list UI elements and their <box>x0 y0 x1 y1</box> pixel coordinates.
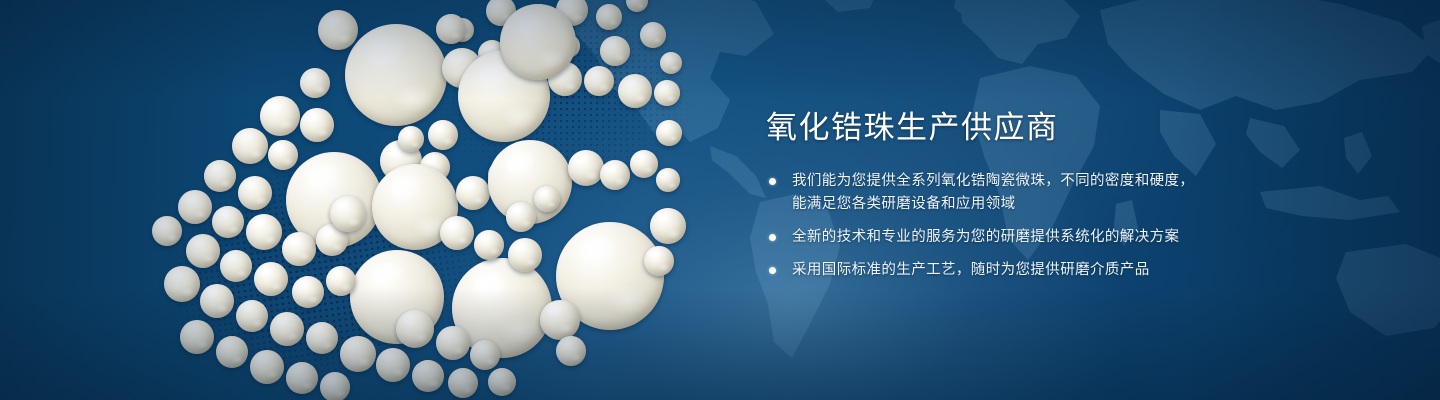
list-item: 采用国际标准的生产工艺，随时为您提供研磨介质产品 <box>766 259 1246 282</box>
list-item: 全新的技术和专业的服务为您的研磨提供系统化的解决方案 <box>766 226 1246 249</box>
page-title: 氧化锆珠生产供应商 <box>766 108 1246 148</box>
bullet-dot-icon <box>769 267 776 274</box>
list-item: 我们能为您提供全系列氧化锆陶瓷微珠，不同的密度和硬度， 能满足您各类研磨设备和应… <box>766 170 1246 216</box>
bullet-line: 全新的技术和专业的服务为您的研磨提供系统化的解决方案 <box>792 226 1246 249</box>
bullet-line: 采用国际标准的生产工艺，随时为您提供研磨介质产品 <box>792 259 1246 282</box>
bullet-dot-icon <box>769 234 776 241</box>
feature-bullet-list: 我们能为您提供全系列氧化锆陶瓷微珠，不同的密度和硬度， 能满足您各类研磨设备和应… <box>766 170 1246 282</box>
bullet-line: 能满足您各类研磨设备和应用领域 <box>792 193 1246 216</box>
hero-copy-block: 氧化锆珠生产供应商 我们能为您提供全系列氧化锆陶瓷微珠，不同的密度和硬度， 能满… <box>766 108 1246 282</box>
bullet-dot-icon <box>769 178 776 185</box>
hero-banner: 氧化锆珠生产供应商 我们能为您提供全系列氧化锆陶瓷微珠，不同的密度和硬度， 能满… <box>0 0 1440 400</box>
bullet-line: 我们能为您提供全系列氧化锆陶瓷微珠，不同的密度和硬度， <box>792 170 1246 193</box>
